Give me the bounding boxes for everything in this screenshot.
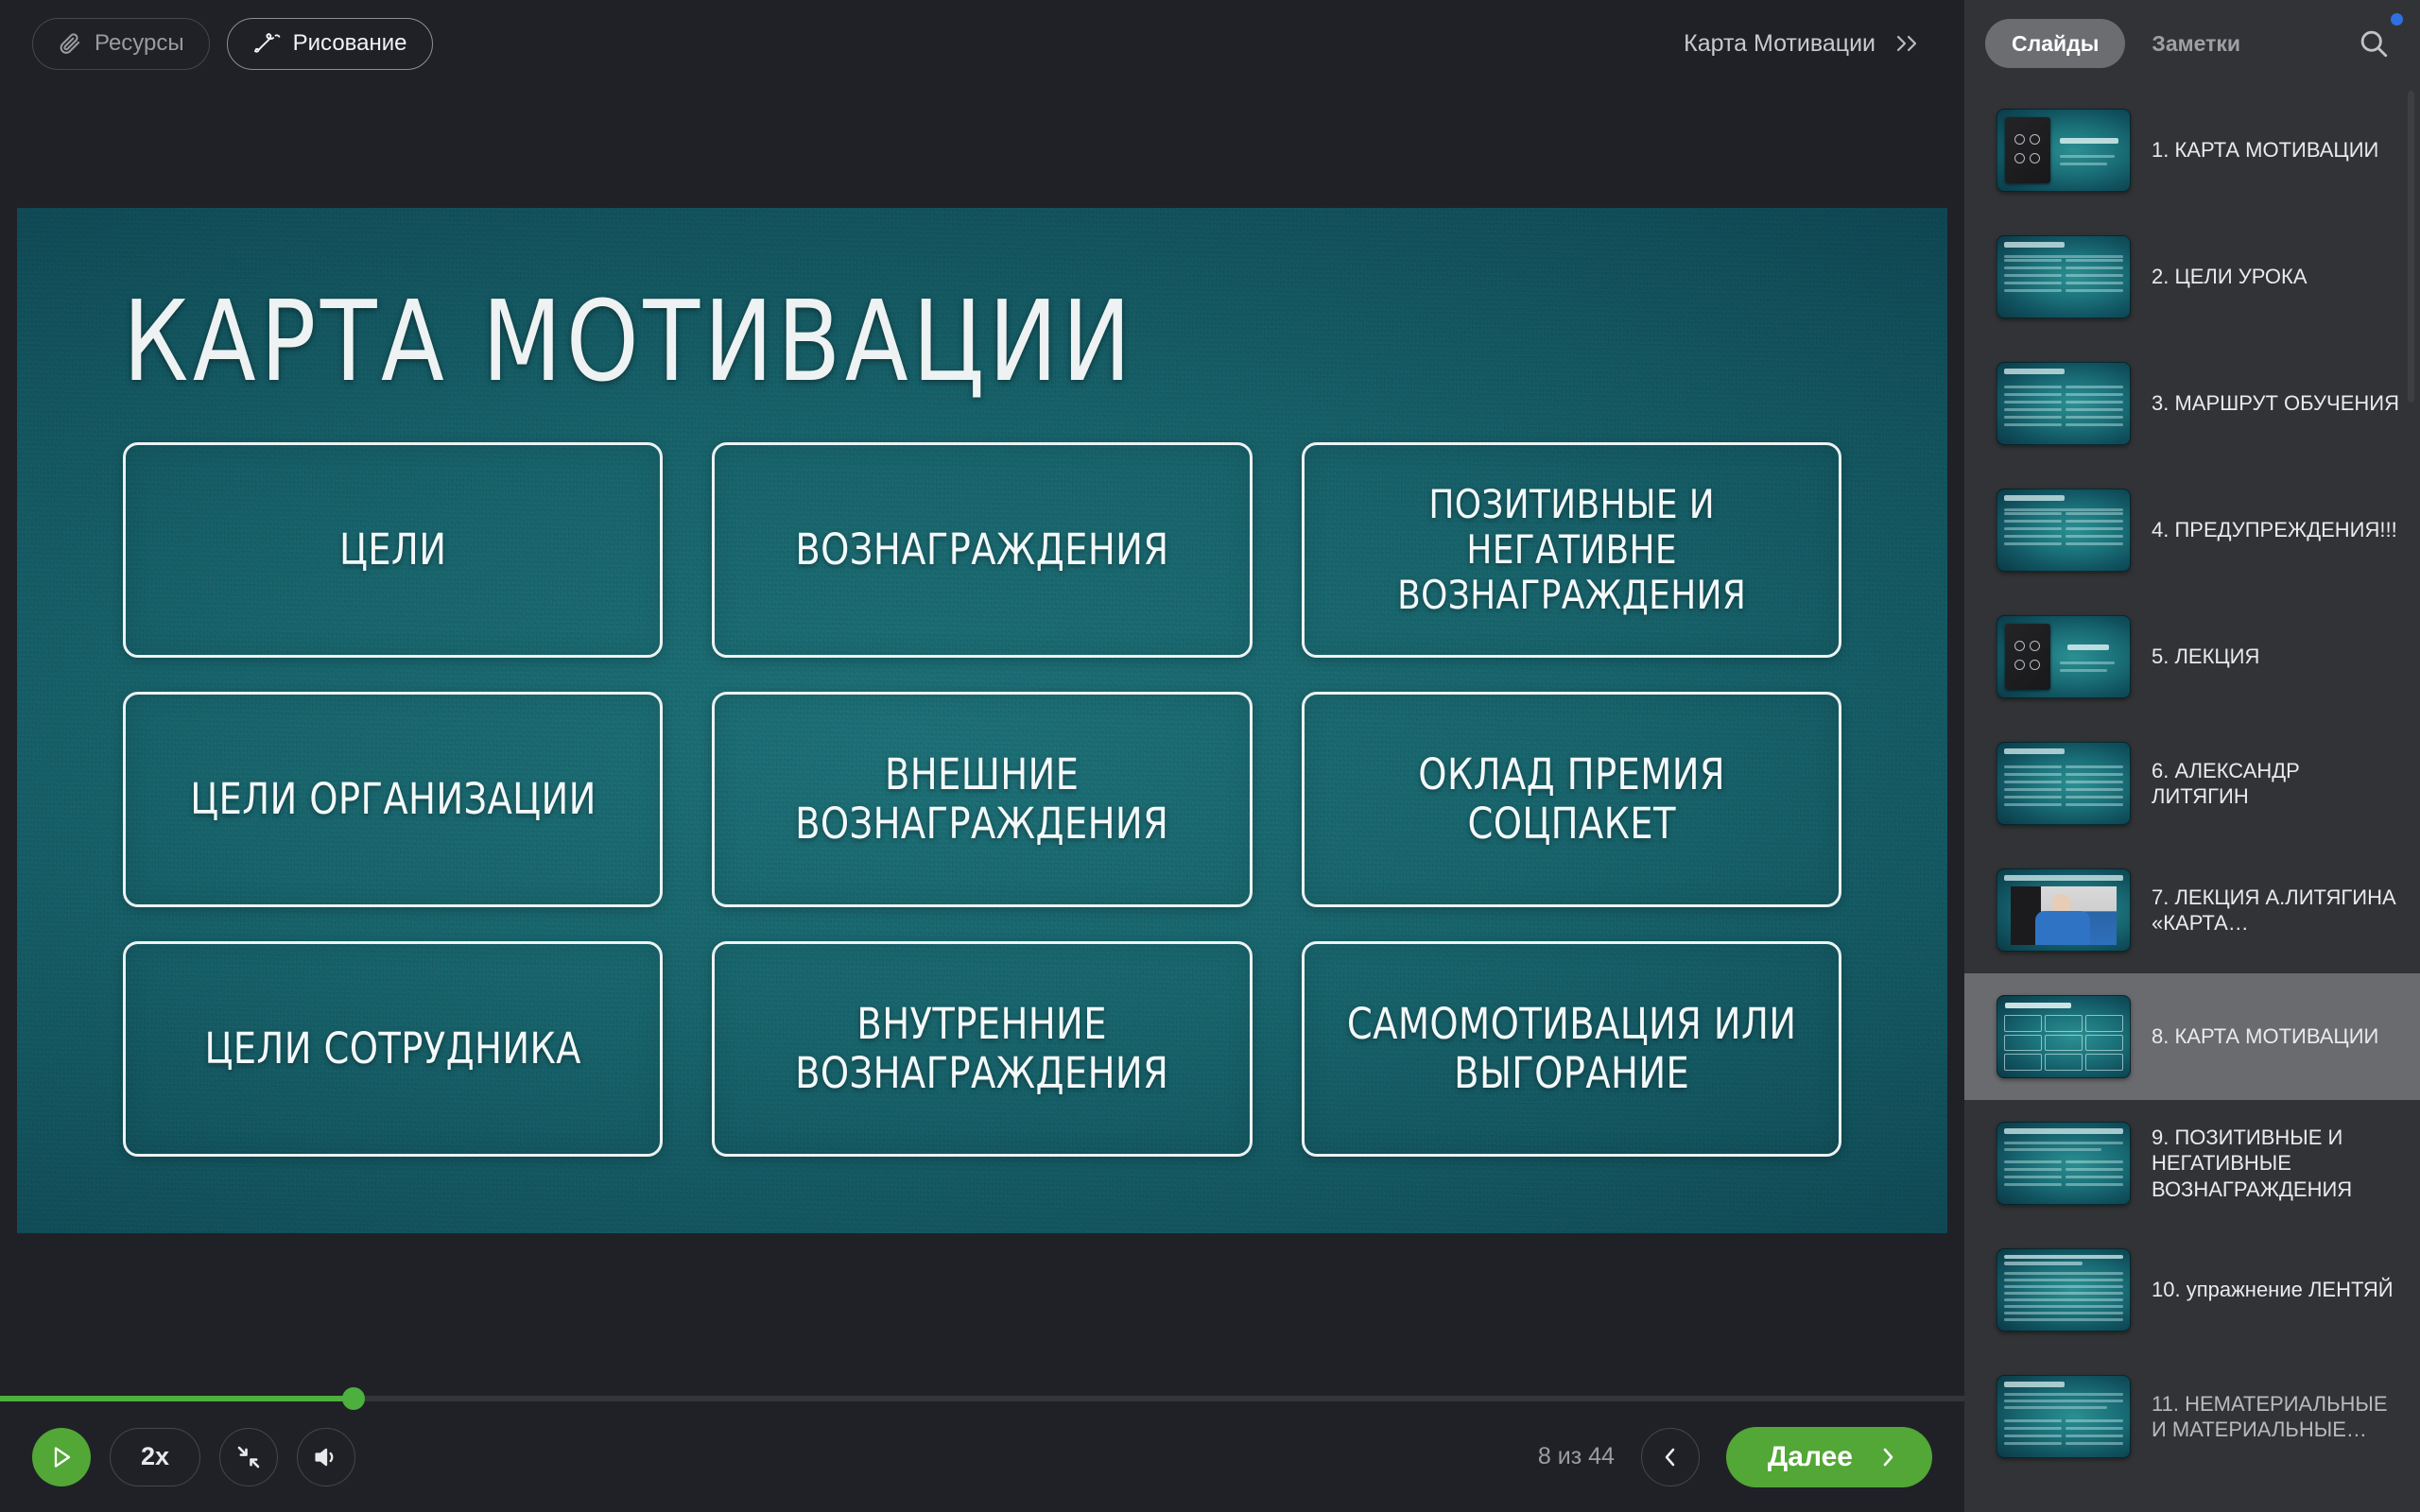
map-card-label: ЦЕЛИ СОТРУДНИКА: [204, 1024, 580, 1074]
map-card: ВНЕШНИЕ ВОЗНАГРАЖДЕНИЯ: [712, 692, 1252, 907]
slide-thumb-item-11[interactable]: 11. НЕМАТЕРИАЛЬНЫЕ И МАТЕРИАЛЬНЫЕ…: [1964, 1353, 2420, 1480]
slide-thumb-item-10[interactable]: 10. упражнение ЛЕНТЯЙ: [1964, 1227, 2420, 1353]
map-card-label: ОКЛАД ПРЕМИЯ СОЦПАКЕТ: [1334, 750, 1809, 849]
map-card: ЦЕЛИ СОТРУДНИКА: [123, 941, 663, 1157]
slide-thumb-label: 6. АЛЕКСАНДР ЛИТЯГИН: [2152, 758, 2399, 810]
slide-thumbnail: [1996, 1122, 2131, 1205]
exit-fullscreen-button[interactable]: [219, 1428, 278, 1486]
slide-thumbnail: [1996, 615, 2131, 698]
slide-thumb-label: 10. упражнение ЛЕНТЯЙ: [2152, 1277, 2394, 1303]
collapse-arrows-icon: [234, 1443, 263, 1471]
map-card-label: САМОМОТИВАЦИЯ ИЛИ ВЫГОРАНИЕ: [1334, 1000, 1809, 1098]
tab-slides[interactable]: Слайды: [1985, 19, 2125, 68]
slide-thumb-label: 2. ЦЕЛИ УРОКА: [2152, 264, 2308, 290]
slide-thumb-item-8[interactable]: 8. КАРТА МОТИВАЦИИ: [1964, 973, 2420, 1100]
tab-slides-label: Слайды: [2012, 31, 2099, 57]
slide-thumb-item-6[interactable]: 6. АЛЕКСАНДР ЛИТЯГИН: [1964, 720, 2420, 847]
map-card: САМОМОТИВАЦИЯ ИЛИ ВЫГОРАНИЕ: [1302, 941, 1841, 1157]
slide-title: КАРТА МОТИВАЦИИ: [123, 285, 1749, 397]
play-icon: [48, 1443, 75, 1471]
paperclip-icon: [58, 31, 82, 56]
slide-thumb-label: 9. ПОЗИТИВНЫЕ И НЕГАТИВНЫЕ ВОЗНАГРАЖДЕНИ…: [2152, 1125, 2399, 1203]
tab-notes-label: Заметки: [2152, 31, 2240, 57]
next-slide-button[interactable]: Далее: [1726, 1427, 1932, 1487]
map-card: ЦЕЛИ: [123, 442, 663, 658]
map-card-label: ЦЕЛИ ОРГАНИЗАЦИИ: [190, 775, 596, 824]
map-card: ВОЗНАГРАЖДЕНИЯ: [712, 442, 1252, 658]
slide-navigation: 8 из 44 Далее: [1538, 1427, 1932, 1487]
deck-title-text: Карта Мотивации: [1684, 30, 1875, 58]
slide-thumb-label: 8. КАРТА МОТИВАЦИИ: [2152, 1023, 2378, 1050]
resources-label: Ресурсы: [95, 30, 184, 57]
motivation-map-grid: ЦЕЛИ ВОЗНАГРАЖДЕНИЯ ПОЗИТИВНЫЕ И НЕГАТИВ…: [123, 442, 1841, 1157]
slide-thumb-item-2[interactable]: 2. ЦЕЛИ УРОКА: [1964, 214, 2420, 340]
tab-notes[interactable]: Заметки: [2125, 19, 2267, 68]
map-card: ВНУТРЕННИЕ ВОЗНАГРАЖДЕНИЯ: [712, 941, 1252, 1157]
player-panel: Ресурсы Рисование Карта Мотивации: [0, 0, 1964, 1512]
search-icon: [2357, 26, 2391, 60]
map-card-label: ПОЗИТИВНЫЕ И НЕГАТИВНЕ ВОЗНАГРАЖДЕНИЯ: [1334, 482, 1809, 619]
search-button[interactable]: [2352, 22, 2395, 65]
slide-thumbnail: [1996, 362, 2131, 445]
slide-thumbnail: [1996, 235, 2131, 318]
map-card-label: ВОЗНАГРАЖДЕНИЯ: [795, 525, 1168, 575]
map-card-label: ВНУТРЕННИЕ ВОЗНАГРАЖДЕНИЯ: [745, 1000, 1220, 1098]
slide-thumb-label: 4. ПРЕДУПРЕЖДЕНИЯ!!!: [2152, 517, 2397, 543]
slide-thumb-label: 5. ЛЕКЦИЯ: [2152, 644, 2259, 670]
slide-thumbnail: [1996, 868, 2131, 952]
slide-thumb-label: 1. КАРТА МОТИВАЦИИ: [2152, 137, 2378, 163]
slide-stage: КАРТА МОТИВАЦИИ ЦЕЛИ ВОЗНАГРАЖДЕНИЯ ПОЗИ…: [0, 87, 1964, 1363]
slides-sidebar: Слайды Заметки 1. КАРТА МО: [1964, 0, 2420, 1512]
map-card: ЦЕЛИ ОРГАНИЗАЦИИ: [123, 692, 663, 907]
slide-thumb-item-3[interactable]: 3. МАРШРУТ ОБУЧЕНИЯ: [1964, 340, 2420, 467]
playback-controls: 2x 8 из 44: [0, 1401, 1964, 1512]
slide-thumb-item-7[interactable]: 7. ЛЕКЦИЯ А.ЛИТЯГИНА «КАРТА…: [1964, 847, 2420, 973]
resources-button[interactable]: Ресурсы: [32, 18, 210, 70]
slide-thumb-item-4[interactable]: 4. ПРЕДУПРЕЖДЕНИЯ!!!: [1964, 467, 2420, 593]
playback-speed-button[interactable]: 2x: [110, 1428, 200, 1486]
slide-thumb-label: 11. НЕМАТЕРИАЛЬНЫЕ И МАТЕРИАЛЬНЫЕ…: [2152, 1391, 2399, 1443]
slide-thumb-label: 3. МАРШРУТ ОБУЧЕНИЯ: [2152, 390, 2399, 417]
slide-thumb-item-5[interactable]: 5. ЛЕКЦИЯ: [1964, 593, 2420, 720]
play-button[interactable]: [32, 1428, 91, 1486]
chevron-right-icon: [1877, 1445, 1898, 1469]
pen-squiggle-icon: [252, 31, 281, 56]
slides-list: 1. КАРТА МОТИВАЦИИ 2. ЦЕЛИ УРОКА: [1964, 87, 2420, 1512]
speaker-icon: [312, 1444, 340, 1470]
slide-thumb-item-9[interactable]: 9. ПОЗИТИВНЫЕ И НЕГАТИВНЫЕ ВОЗНАГРАЖДЕНИ…: [1964, 1100, 2420, 1227]
next-slide-label: Далее: [1768, 1441, 1853, 1473]
deck-title-button[interactable]: Карта Мотивации: [1684, 30, 1932, 58]
drawing-button[interactable]: Рисование: [227, 18, 433, 70]
slide-thumb-item-1[interactable]: 1. КАРТА МОТИВАЦИИ: [1964, 87, 2420, 214]
slide-thumbnail: [1996, 1248, 2131, 1332]
map-card: ОКЛАД ПРЕМИЯ СОЦПАКЕТ: [1302, 692, 1841, 907]
slide-canvas[interactable]: КАРТА МОТИВАЦИИ ЦЕЛИ ВОЗНАГРАЖДЕНИЯ ПОЗИ…: [17, 208, 1947, 1233]
volume-button[interactable]: [297, 1428, 355, 1486]
chevron-left-icon: [1660, 1445, 1681, 1469]
slide-thumbnail: [1996, 742, 2131, 825]
playback-speed-label: 2x: [141, 1442, 169, 1471]
slide-thumbnail: [1996, 109, 2131, 192]
double-chevron-right-icon: [1893, 33, 1923, 54]
previous-slide-button[interactable]: [1641, 1428, 1700, 1486]
map-card: ПОЗИТИВНЫЕ И НЕГАТИВНЕ ВОЗНАГРАЖДЕНИЯ: [1302, 442, 1841, 658]
map-card-label: ЦЕЛИ: [339, 525, 446, 575]
player-toolbar: Ресурсы Рисование Карта Мотивации: [0, 0, 1964, 87]
slide-counter: 8 из 44: [1538, 1443, 1615, 1470]
notification-dot-icon: [2391, 13, 2403, 26]
slide-thumb-label: 7. ЛЕКЦИЯ А.ЛИТЯГИНА «КАРТА…: [2152, 885, 2399, 936]
map-card-label: ВНЕШНИЕ ВОЗНАГРАЖДЕНИЯ: [745, 750, 1220, 849]
slide-thumbnail: [1996, 995, 2131, 1078]
presentation-player-app: Ресурсы Рисование Карта Мотивации: [0, 0, 2420, 1512]
drawing-label: Рисование: [293, 30, 407, 57]
slide-thumbnail: [1996, 489, 2131, 572]
sidebar-tabs: Слайды Заметки: [1964, 0, 2420, 87]
lecture-video-thumb: [2011, 886, 2117, 945]
slide-thumbnail: [1996, 1375, 2131, 1458]
